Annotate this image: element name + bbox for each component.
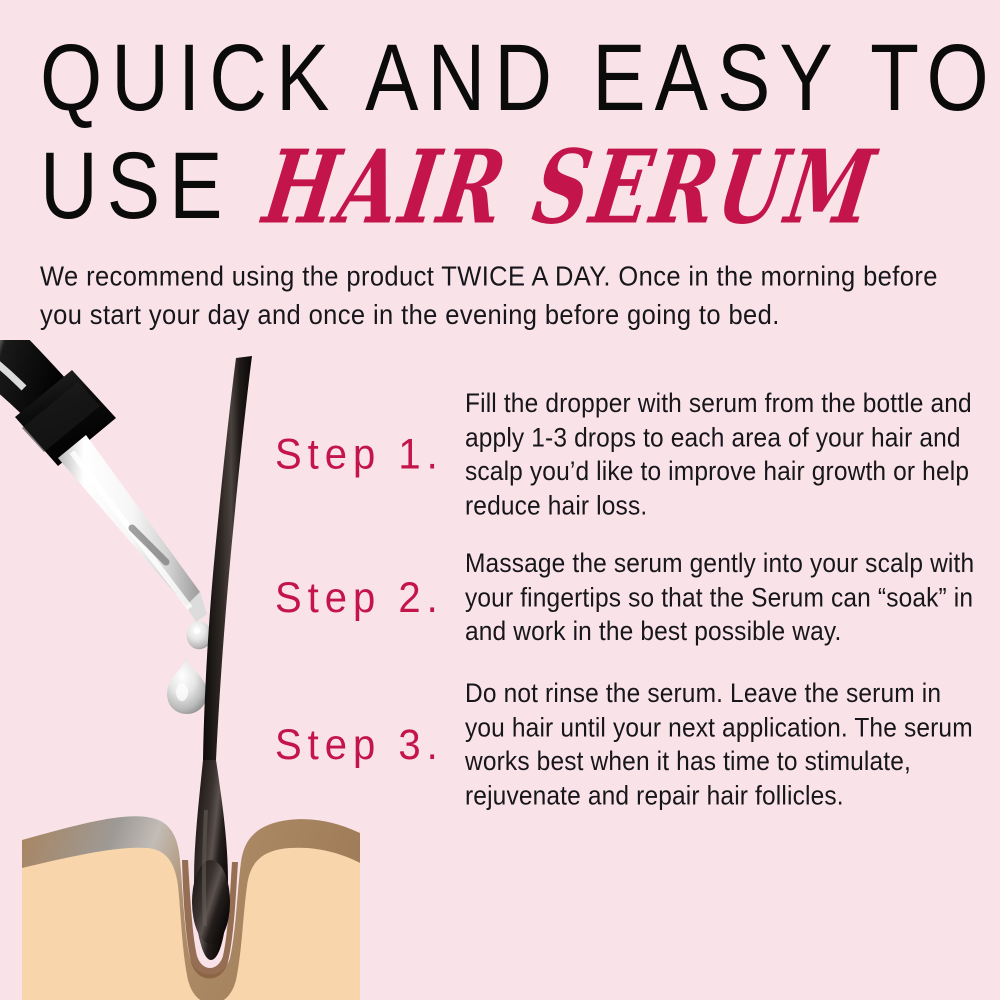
glass-pipette [58, 435, 207, 622]
step-item-2: Step 2. Massage the serum gently into yo… [275, 551, 985, 646]
step-1-text: Fill the dropper with serum from the bot… [465, 387, 985, 524]
dropper-collar [15, 370, 116, 466]
heading-line-2: USE HAIR SERUM [40, 154, 970, 232]
heading-block: QUICK AND EASY TO USE HAIR SERUM [40, 46, 970, 233]
skin-lower-layer [22, 840, 360, 1000]
serum-drop-falling [167, 658, 207, 714]
step-3-label: Step 3. [275, 722, 465, 770]
serum-drop-tip [187, 621, 213, 649]
skin-surface-layer [22, 816, 360, 1000]
steps-list: Step 1. Fill the dropper with serum from… [275, 392, 985, 842]
step-3-text: Do not rinse the serum. Leave the serum … [465, 677, 985, 814]
step-item-1: Step 1. Fill the dropper with serum from… [275, 392, 985, 519]
step-2-text: Massage the serum gently into your scalp… [465, 547, 985, 650]
hair-bulb [192, 760, 230, 960]
subtitle-text: We recommend using the product TWICE A D… [40, 258, 975, 335]
heading-line2-plain-text: USE [40, 140, 232, 233]
poster-canvas: QUICK AND EASY TO USE HAIR SERUM We reco… [0, 0, 1000, 1000]
follicle-lining [182, 860, 238, 979]
heading-line-1: QUICK AND EASY TO [40, 46, 970, 124]
step-item-3: Step 3. Do not rinse the serum. Leave th… [275, 682, 985, 809]
heading-line1-text: QUICK AND EASY TO [40, 32, 998, 125]
step-2-label: Step 2. [275, 575, 465, 623]
heading-script-hair-serum: HAIR SERUM [258, 139, 883, 238]
step-1-label: Step 1. [275, 432, 465, 480]
hair-shaft [203, 356, 252, 760]
dropper-bulb [0, 340, 78, 432]
